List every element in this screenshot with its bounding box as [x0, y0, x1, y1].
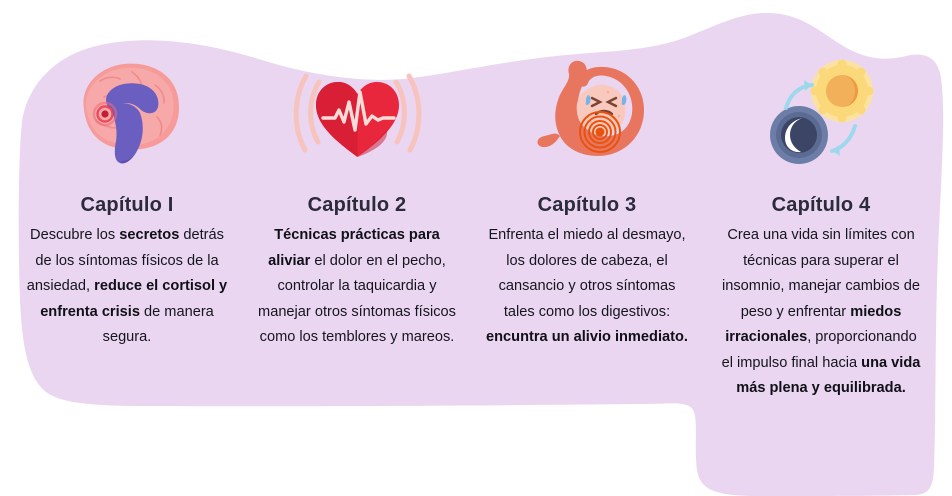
- moon-icon: [770, 106, 828, 164]
- infographic-stage: Capítulo I Descubre los secretos detrás …: [0, 0, 952, 496]
- stomach-pain-icon: [522, 52, 652, 174]
- sun-moon-cycle-icon: [754, 56, 889, 171]
- sun-icon: [810, 59, 873, 122]
- sun-moon-cycle-icon-wrap: [754, 38, 889, 188]
- heartbeat-icon: [290, 58, 425, 168]
- body-text-run: Descubre los: [30, 227, 119, 243]
- chapter-column-2: Capítulo 2 Técnicas prácticas para alivi…: [248, 0, 466, 351]
- chapter-title: Capítulo 4: [772, 194, 871, 216]
- brain-icon: [60, 51, 195, 176]
- chapter-body: Enfrenta el miedo al desmayo, los dolore…: [485, 223, 690, 351]
- heartbeat-icon-wrap: [290, 38, 425, 188]
- chapter-title: Capítulo I: [80, 194, 173, 216]
- body-text-emphasis: encuntra un alivio inmediato.: [486, 329, 688, 345]
- brain-icon-wrap: [60, 38, 195, 188]
- body-text-run: Enfrenta el miedo al desmayo, los dolore…: [488, 227, 685, 320]
- chapter-body: Crea una vida sin límites con técnicas p…: [719, 223, 924, 402]
- body-text-emphasis: secretos: [119, 227, 179, 243]
- chapter-body: Descubre los secretos detrás de los sínt…: [25, 223, 230, 351]
- chapter-column-1: Capítulo I Descubre los secretos detrás …: [18, 0, 236, 351]
- chapter-columns: Capítulo I Descubre los secretos detrás …: [0, 0, 952, 496]
- chapter-title: Capítulo 3: [538, 194, 637, 216]
- chapter-column-4: Capítulo 4 Crea una vida sin límites con…: [712, 0, 930, 402]
- chapter-column-3: Capítulo 3 Enfrenta el miedo al desmayo,…: [478, 0, 696, 351]
- chapter-title: Capítulo 2: [308, 194, 407, 216]
- stomach-pain-icon-wrap: [522, 38, 652, 188]
- chapter-body: Técnicas prácticas para aliviar el dolor…: [255, 223, 460, 351]
